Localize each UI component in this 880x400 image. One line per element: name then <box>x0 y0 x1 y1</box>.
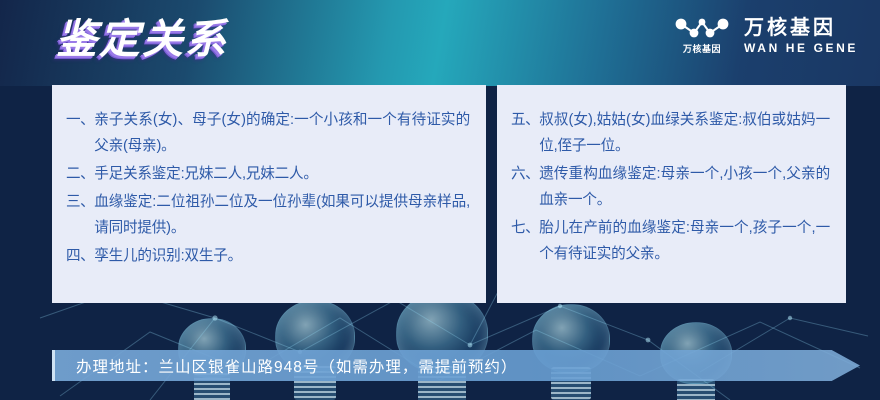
molecule-network-icon <box>673 16 731 42</box>
list-item-text: 叔叔(女),姑姑(女)血绿关系鉴定:叔伯或姑妈一位,侄子一位。 <box>539 107 830 159</box>
list-item-number: 五、 <box>511 107 539 133</box>
brand-mark-label: 万核基因 <box>683 44 721 55</box>
list-item-text: 血缘鉴定:二位祖孙二位及一位孙辈(如果可以提供母亲样品,请同时提供)。 <box>94 189 470 241</box>
service-card-left: 一、 亲子关系(女)、母子(女)的确定:一个小孩和一个有待证实的父亲(母亲)。 … <box>52 85 486 303</box>
list-item-number: 二、 <box>66 161 94 187</box>
list-item: 五、 叔叔(女),姑姑(女)血绿关系鉴定:叔伯或姑妈一位,侄子一位。 <box>511 107 830 159</box>
list-item-number: 六、 <box>511 161 539 187</box>
address-text: 办理地址：兰山区银雀山路948号（如需办理，需提前预约） <box>76 350 517 381</box>
list-item: 七、 胎儿在产前的血缘鉴定:母亲一个,孩子一个,一个有待证实的父亲。 <box>511 215 830 267</box>
list-item: 六、 遗传重构血缘鉴定:母亲一个,小孩一个,父亲的血亲一个。 <box>511 161 830 213</box>
list-item-number: 一、 <box>66 107 94 133</box>
list-item: 二、 手足关系鉴定:兄妹二人,兄妹二人。 <box>66 161 470 187</box>
list-item-text: 孪生儿的识别:双生子。 <box>94 243 470 269</box>
list-item-text: 胎儿在产前的血缘鉴定:母亲一个,孩子一个,一个有待证实的父亲。 <box>539 215 830 267</box>
poster-canvas: 鉴定关系 万核基因 万核基因 WAN HE GENE <box>0 0 880 400</box>
list-item-number: 七、 <box>511 215 539 241</box>
address-banner-edge <box>52 350 55 381</box>
list-item: 三、 血缘鉴定:二位祖孙二位及一位孙辈(如果可以提供母亲样品,请同时提供)。 <box>66 189 470 241</box>
list-item: 四、 孪生儿的识别:双生子。 <box>66 243 470 269</box>
brand-wordmark: 万核基因 WAN HE GENE <box>744 16 858 55</box>
service-list-left: 一、 亲子关系(女)、母子(女)的确定:一个小孩和一个有待证实的父亲(母亲)。 … <box>66 107 470 271</box>
service-list-right: 五、 叔叔(女),姑姑(女)血绿关系鉴定:叔伯或姑妈一位,侄子一位。 六、 遗传… <box>511 107 830 269</box>
page-title: 鉴定关系 <box>56 12 228 66</box>
list-item-number: 三、 <box>66 189 94 215</box>
list-item: 一、 亲子关系(女)、母子(女)的确定:一个小孩和一个有待证实的父亲(母亲)。 <box>66 107 470 159</box>
list-item-text: 手足关系鉴定:兄妹二人,兄妹二人。 <box>94 161 470 187</box>
list-item-text: 遗传重构血缘鉴定:母亲一个,小孩一个,父亲的血亲一个。 <box>539 161 830 213</box>
service-card-right: 五、 叔叔(女),姑姑(女)血绿关系鉴定:叔伯或姑妈一位,侄子一位。 六、 遗传… <box>497 85 846 303</box>
list-item-text: 亲子关系(女)、母子(女)的确定:一个小孩和一个有待证实的父亲(母亲)。 <box>94 107 470 159</box>
list-item-number: 四、 <box>66 243 94 269</box>
brand-mark: 万核基因 <box>673 16 731 55</box>
brand-name-en: WAN HE GENE <box>744 41 858 55</box>
brand-name-cn: 万核基因 <box>744 16 836 40</box>
brand-logo: 万核基因 万核基因 WAN HE GENE <box>673 16 858 55</box>
